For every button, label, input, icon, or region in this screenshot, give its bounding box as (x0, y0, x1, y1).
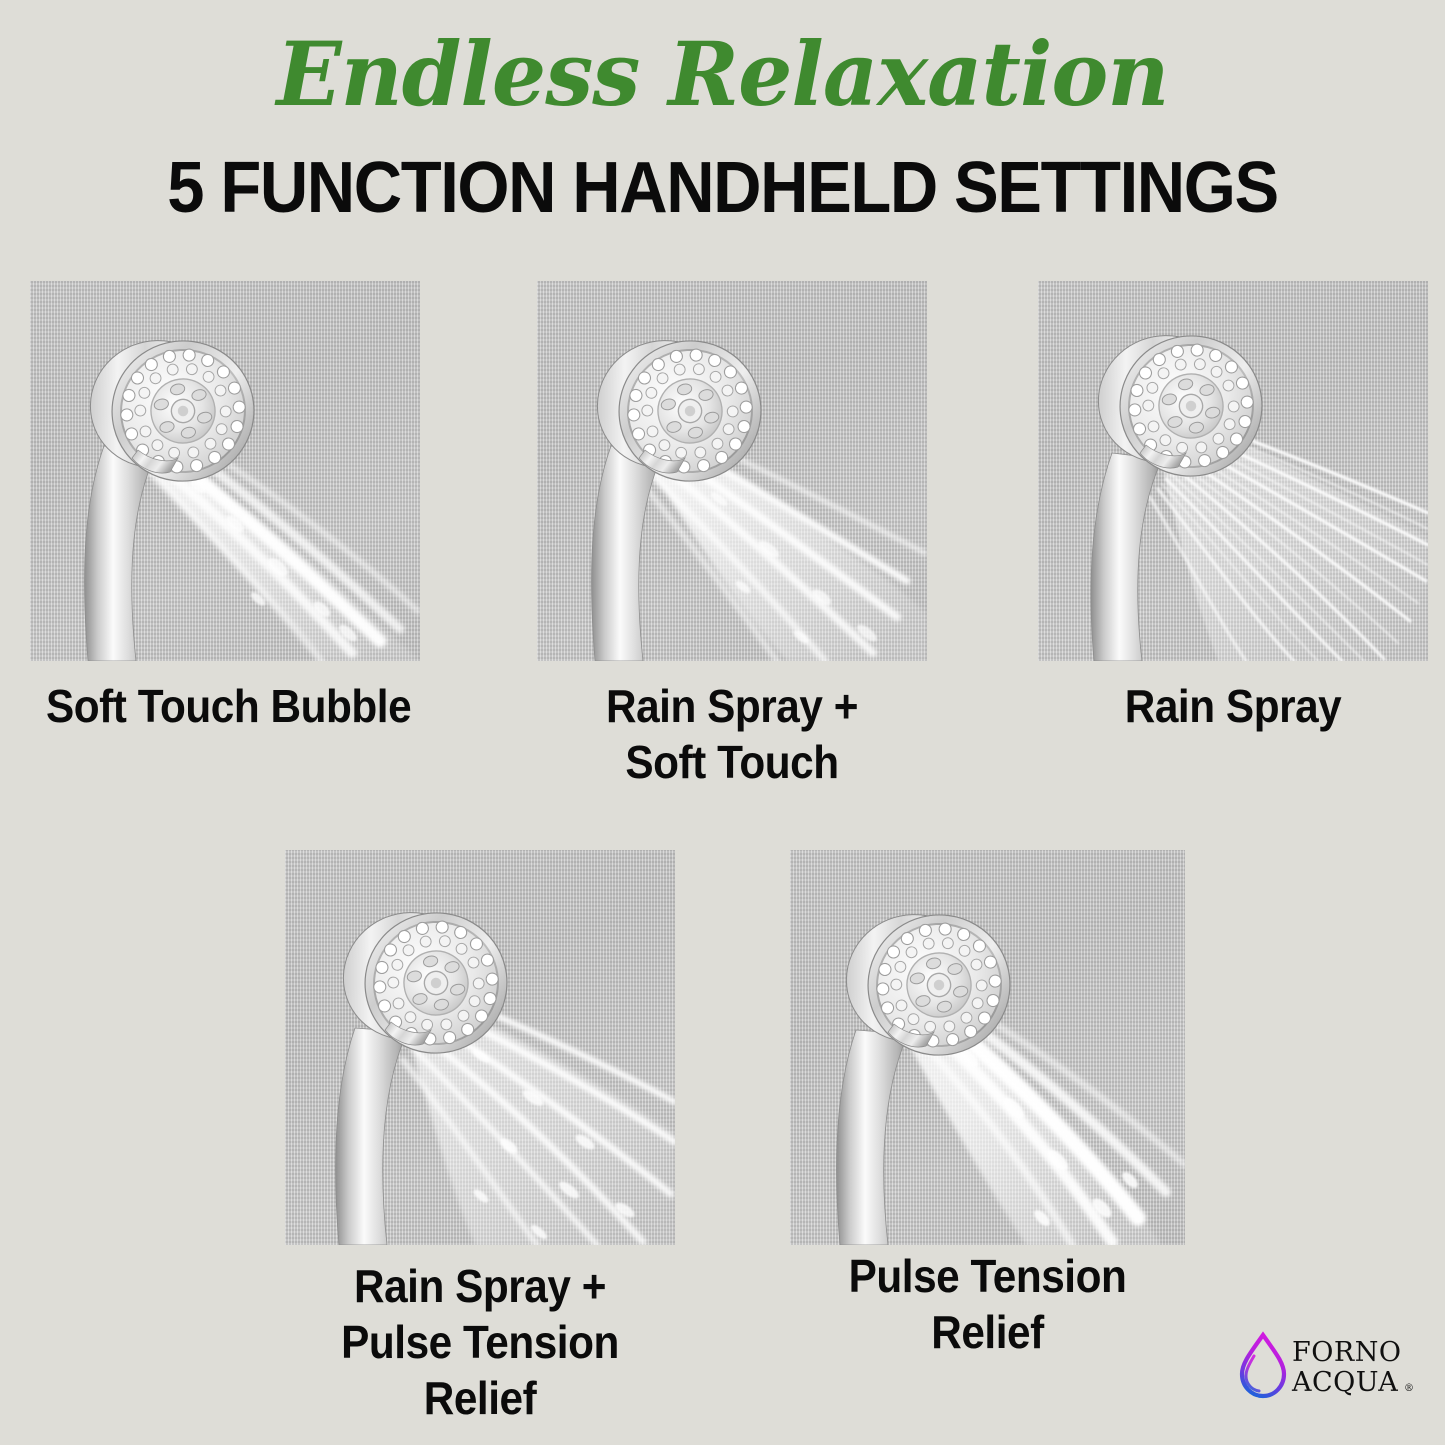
shower-handle (592, 446, 663, 661)
caption-rain-spray-soft-touch: Rain Spray + Soft Touch (553, 678, 912, 790)
water-drop-icon (1242, 1335, 1284, 1396)
showerhead-illustration-soft-touch-bubble (30, 281, 420, 661)
shower-handle (85, 446, 156, 661)
showerhead-illustration-rain-spray-soft-touch (537, 281, 927, 661)
product-image-pulse-tension-relief (790, 850, 1185, 1245)
logo-line-2: ACQUA (1291, 1367, 1398, 1398)
product-image-rain-spray-soft-touch (537, 281, 927, 661)
caption-rain-spray-pulse-tension-relief: Rain Spray + Pulse Tension Relief (287, 1258, 673, 1426)
page-title: 5 FUNCTION HANDHELD SETTINGS (51, 152, 1395, 224)
caption-rain-spray: Rain Spray (1054, 678, 1413, 734)
logo-line-1: FORNO (1292, 1337, 1401, 1368)
showerhead-illustration-pulse-tension-relief (790, 850, 1185, 1245)
product-image-rain-spray (1038, 281, 1428, 661)
header-block: Endless Relaxation 5 FUNCTION HANDHELD S… (0, 0, 1445, 224)
brand-logo: FORNO ACQUA ® (1238, 1330, 1418, 1402)
showerhead-illustration-rain-spray (1038, 281, 1428, 661)
shower-handle (837, 1030, 908, 1245)
showerhead-illustration-rain-spray-pulse (285, 850, 675, 1245)
script-title: Endless Relaxation (22, 30, 1424, 118)
forno-acqua-logo: FORNO ACQUA ® (1238, 1330, 1418, 1402)
caption-soft-touch-bubble: Soft Touch Bubble (46, 678, 432, 734)
product-image-soft-touch-bubble (30, 281, 420, 661)
shower-handle (336, 1028, 407, 1245)
shower-handle (1091, 453, 1162, 661)
registered-trademark-mark: ® (1404, 1383, 1414, 1394)
product-image-rain-spray-pulse-tension-relief (285, 850, 675, 1245)
caption-pulse-tension-relief: Pulse Tension Relief (806, 1248, 1169, 1360)
